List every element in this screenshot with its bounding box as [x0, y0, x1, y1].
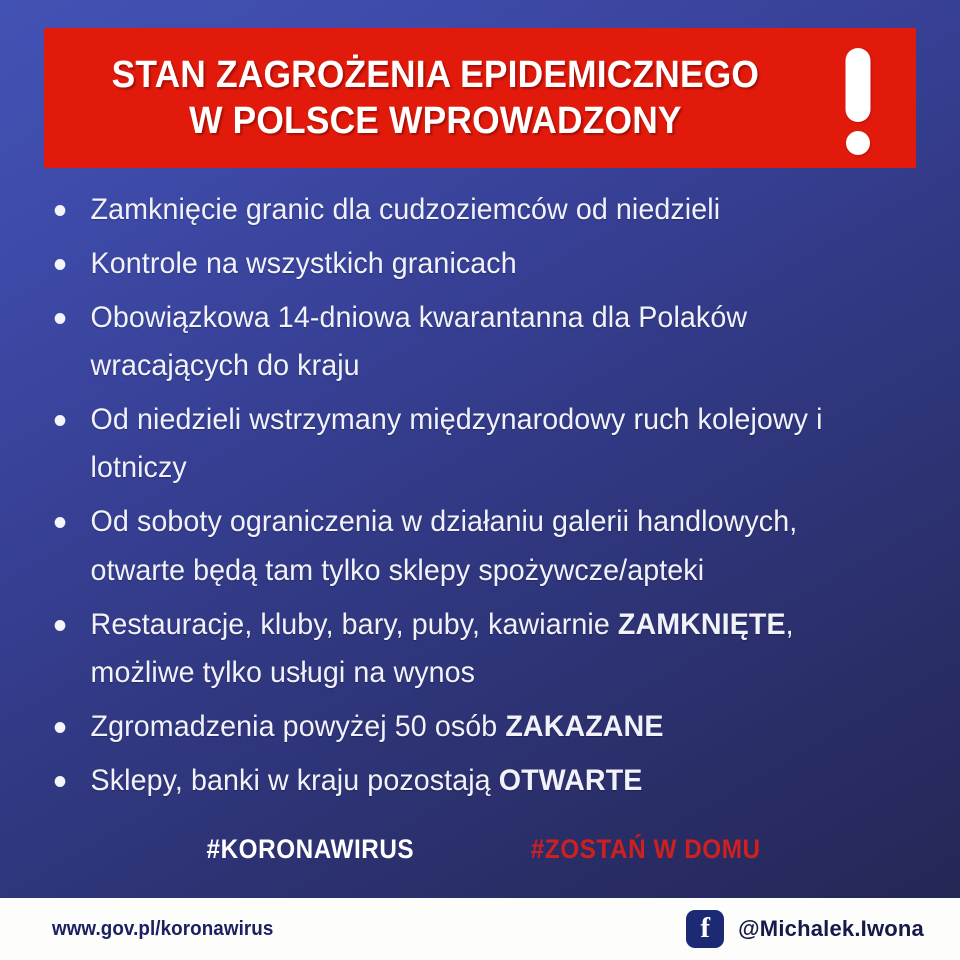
exclamation-mark-icon — [810, 42, 906, 154]
footer-url[interactable]: www.gov.pl/koronawirus — [52, 918, 273, 941]
list-item: Obowiązkowa 14-dniowa kwarantanna dla Po… — [44, 294, 898, 390]
list-item: Sklepy, banki w kraju pozostają OTWARTE — [44, 757, 898, 805]
page-title-line-1: STAN ZAGROŻENIA EPIDEMICZNEGO — [112, 54, 759, 96]
restrictions-list: Zamknięcie granic dla cudzoziemców od ni… — [44, 186, 924, 811]
list-item: Restauracje, kluby, bary, puby, kawiarni… — [44, 601, 898, 697]
poster-root: STAN ZAGROŻENIA EPIDEMICZNEGO W POLSCE W… — [0, 0, 960, 960]
page-title-line-2: W POLSCE WPROWADZONY — [88, 98, 784, 144]
list-item: Kontrole na wszystkich granicach — [44, 240, 898, 288]
list-item: Zamknięcie granic dla cudzoziemców od ni… — [44, 186, 898, 234]
page-title: STAN ZAGROŻENIA EPIDEMICZNEGO W POLSCE W… — [71, 52, 783, 145]
exclamation-dot — [846, 131, 870, 155]
hashtag-zostan-w-domu: #ZOSTAŃ W DOMU — [530, 834, 760, 865]
facebook-glyph: f — [686, 914, 724, 943]
list-item: Zgromadzenia powyżej 50 osób ZAKAZANE — [44, 703, 898, 751]
hashtag-row: #KORONAWIRUS #ZOSTAŃ W DOMU — [44, 834, 924, 865]
list-item: Od niedzieli wstrzymany międzynarodowy r… — [44, 396, 898, 492]
footer-bar: www.gov.pl/koronawirus f @Michalek.Iwona — [0, 898, 960, 960]
header-banner: STAN ZAGROŻENIA EPIDEMICZNEGO W POLSCE W… — [44, 28, 916, 168]
hashtag-koronawirus: #KORONAWIRUS — [206, 834, 414, 865]
exclamation-bar — [846, 48, 871, 122]
list-item: Od soboty ograniczenia w działaniu galer… — [44, 498, 898, 594]
facebook-icon[interactable]: f — [686, 910, 724, 948]
footer-facebook-handle[interactable]: @Michalek.Iwona — [738, 916, 924, 942]
footer-social: f @Michalek.Iwona — [686, 910, 924, 948]
